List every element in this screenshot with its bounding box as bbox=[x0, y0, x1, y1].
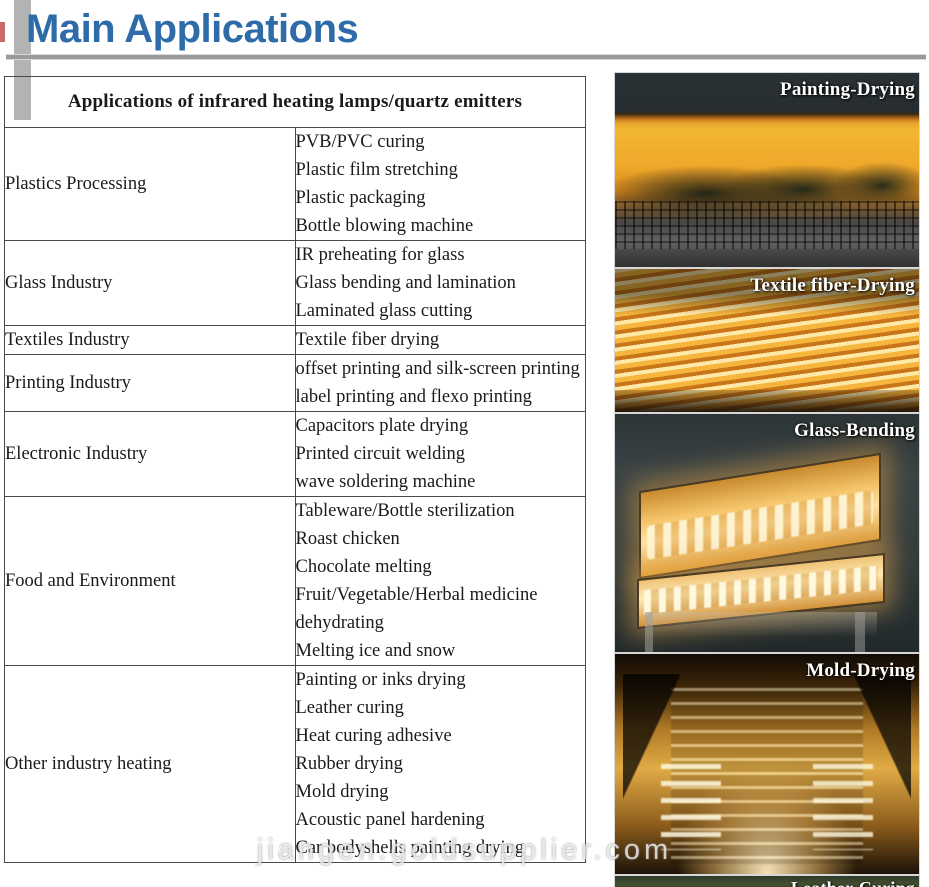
photo-caption-painting-drying: Painting-Drying bbox=[780, 79, 915, 101]
application-item: Heat curing adhesive bbox=[296, 722, 586, 750]
application-item: Laminated glass cutting bbox=[296, 297, 586, 325]
tunnel-left-lamps bbox=[661, 764, 721, 850]
application-item: Glass bending and lamination bbox=[296, 269, 586, 297]
page-title: Main Applications bbox=[26, 6, 358, 52]
category-cell: Food and Environment bbox=[5, 497, 296, 666]
application-item: PVB/PVC curing bbox=[296, 128, 586, 156]
application-item: Car bodyshells painting drying bbox=[296, 834, 586, 862]
application-item: Textile fiber drying bbox=[296, 326, 586, 354]
table-row: Textiles IndustryTextile fiber drying bbox=[5, 326, 586, 355]
page-header: Main Applications bbox=[0, 0, 929, 60]
category-cell: Plastics Processing bbox=[5, 128, 296, 241]
category-cell: Electronic Industry bbox=[5, 412, 296, 497]
photo-caption-mold-drying: Mold-Drying bbox=[806, 660, 915, 682]
applications-table: Applications of infrared heating lamps/q… bbox=[4, 76, 586, 863]
photo-painting-drying: Painting-Drying bbox=[614, 72, 920, 268]
table-row: Food and EnvironmentTableware/Bottle ste… bbox=[5, 497, 586, 666]
application-item: wave soldering machine bbox=[296, 468, 586, 496]
category-cell: Printing Industry bbox=[5, 355, 296, 412]
left-red-marker bbox=[0, 22, 5, 42]
table-row: Printing Industryoffset printing and sil… bbox=[5, 355, 586, 412]
applications-table-container: Applications of infrared heating lamps/q… bbox=[4, 76, 586, 863]
applications-cell: Tableware/Bottle sterilizationRoast chic… bbox=[295, 497, 586, 666]
application-item: Capacitors plate drying bbox=[296, 412, 586, 440]
application-item: Mold drying bbox=[296, 778, 586, 806]
application-photo-column: Painting-Drying Textile fiber-Drying Gla… bbox=[614, 72, 920, 887]
category-cell: Glass Industry bbox=[5, 241, 296, 326]
table-row: Other industry heatingPainting or inks d… bbox=[5, 666, 586, 863]
application-item: Melting ice and snow bbox=[296, 637, 586, 665]
application-item: Leather curing bbox=[296, 694, 586, 722]
application-item: Chocolate melting bbox=[296, 553, 586, 581]
applications-table-body: Plastics ProcessingPVB/PVC curingPlastic… bbox=[5, 128, 586, 863]
photo-leather-curing: Leather-Curing bbox=[614, 875, 920, 887]
conveyor-mesh bbox=[615, 201, 919, 249]
application-item: Plastic packaging bbox=[296, 184, 586, 212]
application-item: Plastic film stretching bbox=[296, 156, 586, 184]
photo-textile-fiber-drying: Textile fiber-Drying bbox=[614, 268, 920, 413]
oven-frame-legs bbox=[645, 612, 877, 653]
applications-cell: Painting or inks dryingLeather curingHea… bbox=[295, 666, 586, 863]
applications-cell: Capacitors plate dryingPrinted circuit w… bbox=[295, 412, 586, 497]
application-item: Painting or inks drying bbox=[296, 666, 586, 694]
application-item: Printed circuit welding bbox=[296, 440, 586, 468]
category-cell: Other industry heating bbox=[5, 666, 296, 863]
application-item: Bottle blowing machine bbox=[296, 212, 586, 240]
photo-caption-textile-fiber-drying: Textile fiber-Drying bbox=[750, 275, 915, 297]
application-item: offset printing and silk-screen printing bbox=[296, 355, 586, 383]
application-item: Tableware/Bottle sterilization bbox=[296, 497, 586, 525]
table-row: Glass IndustryIR preheating for glassGla… bbox=[5, 241, 586, 326]
table-row: Plastics ProcessingPVB/PVC curingPlastic… bbox=[5, 128, 586, 241]
table-header-row: Applications of infrared heating lamps/q… bbox=[5, 77, 586, 128]
applications-cell: Textile fiber drying bbox=[295, 326, 586, 355]
category-cell: Textiles Industry bbox=[5, 326, 296, 355]
tunnel-right-lamps bbox=[813, 764, 873, 850]
application-item: Rubber drying bbox=[296, 750, 586, 778]
application-item: IR preheating for glass bbox=[296, 241, 586, 269]
applications-cell: PVB/PVC curingPlastic film stretchingPla… bbox=[295, 128, 586, 241]
lower-lamp-array bbox=[644, 566, 878, 615]
applications-cell: IR preheating for glassGlass bending and… bbox=[295, 241, 586, 326]
application-item: Acoustic panel hardening bbox=[296, 806, 586, 834]
photo-caption-glass-bending: Glass-Bending bbox=[794, 420, 915, 442]
photo-caption-leather-curing: Leather-Curing bbox=[791, 878, 915, 887]
photo-mold-drying: Mold-Drying bbox=[614, 653, 920, 875]
application-item: dehydrating bbox=[296, 609, 586, 637]
title-divider-rule bbox=[6, 54, 926, 60]
applications-cell: offset printing and silk-screen printing… bbox=[295, 355, 586, 412]
application-item: label printing and flexo printing bbox=[296, 383, 586, 411]
table-row: Electronic IndustryCapacitors plate dryi… bbox=[5, 412, 586, 497]
application-item: Fruit/Vegetable/Herbal medicine bbox=[296, 581, 586, 609]
upper-lamp-array bbox=[647, 490, 873, 560]
table-title-cell: Applications of infrared heating lamps/q… bbox=[5, 77, 586, 128]
photo-lower-shadow bbox=[615, 390, 919, 412]
application-item: Roast chicken bbox=[296, 525, 586, 553]
photo-glass-bending: Glass-Bending bbox=[614, 413, 920, 653]
